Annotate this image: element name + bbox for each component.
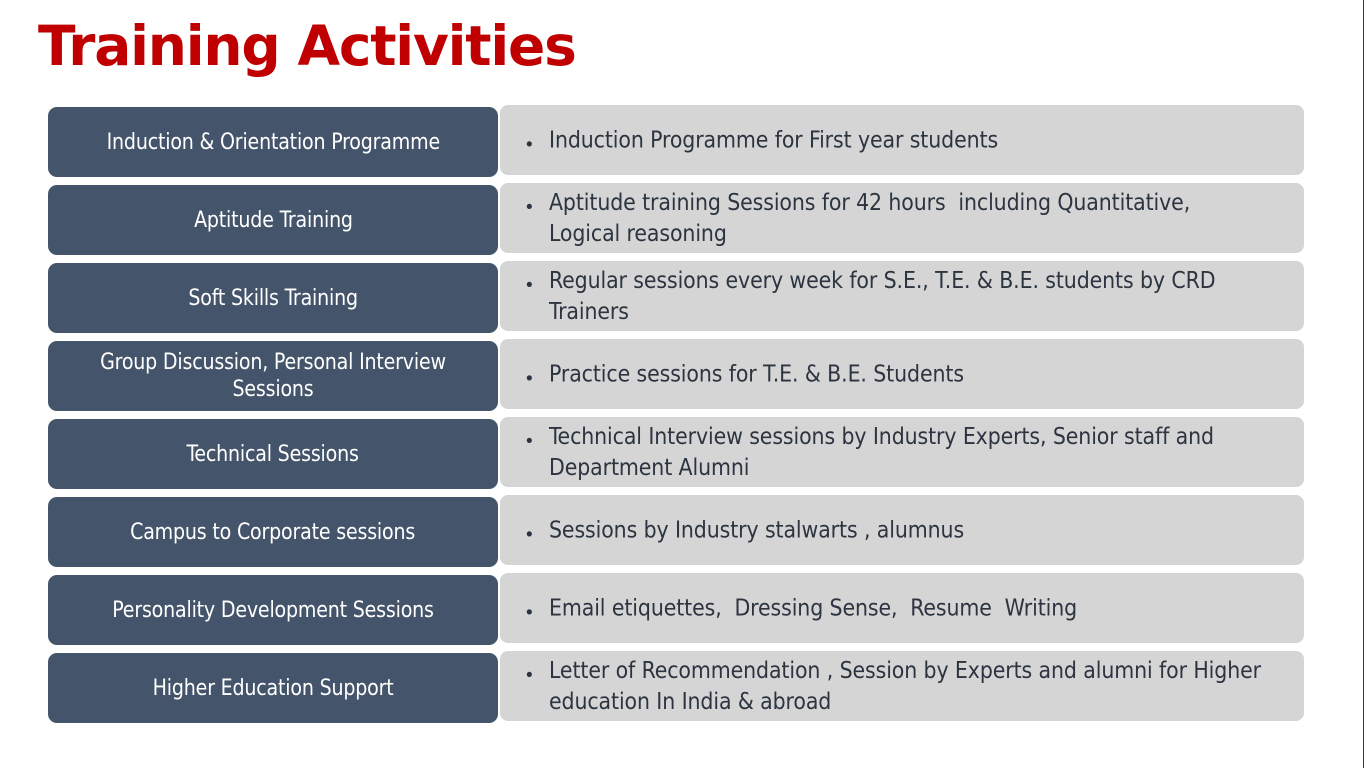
detail-text: Sessions by Industry stalwarts , alumnus [549, 515, 1264, 546]
category-cell-technical-sessions[interactable]: Technical Sessions [48, 419, 498, 489]
bullet-item: Regular sessions every week for S.E., T.… [526, 265, 1286, 327]
category-label: Induction & Orientation Programme [106, 129, 439, 156]
detail-text: Induction Programme for First year stude… [549, 125, 1264, 156]
bullet-dot-icon [526, 421, 549, 451]
table-row: Aptitude Training Aptitude training Sess… [0, 185, 1366, 255]
detail-text: Letter of Recommendation , Session by Ex… [549, 655, 1264, 717]
detail-text: Technical Interview sessions by Industry… [549, 421, 1264, 483]
bullet-item: Sessions by Industry stalwarts , alumnus [526, 515, 1286, 546]
bullet-dot-icon [526, 593, 549, 623]
bullet-dot-icon [526, 515, 549, 545]
detail-text: Email etiquettes, Dressing Sense, Resume… [549, 593, 1264, 624]
bullet-dot-icon [526, 265, 549, 295]
category-cell-soft-skills-training[interactable]: Soft Skills Training [48, 263, 498, 333]
bullet-dot-icon [526, 359, 549, 389]
detail-text: Practice sessions for T.E. & B.E. Studen… [549, 359, 1264, 390]
category-label: Group Discussion, Personal Interview Ses… [73, 349, 473, 402]
table-row: Personality Development Sessions Email e… [0, 575, 1366, 645]
category-cell-personality-development-sessions[interactable]: Personality Development Sessions [48, 575, 498, 645]
detail-cell-campus-to-corporate-sessions[interactable]: Sessions by Industry stalwarts , alumnus [500, 495, 1304, 565]
category-cell-group-discussion-personal-interview-sessions[interactable]: Group Discussion, Personal Interview Ses… [48, 341, 498, 411]
bullet-item: Email etiquettes, Dressing Sense, Resume… [526, 593, 1286, 624]
bullet-dot-icon [526, 655, 549, 685]
table-row: Group Discussion, Personal Interview Ses… [0, 341, 1366, 411]
detail-cell-higher-education-support[interactable]: Letter of Recommendation , Session by Ex… [500, 651, 1304, 721]
bullet-dot-icon [526, 125, 549, 155]
detail-cell-technical-sessions[interactable]: Technical Interview sessions by Industry… [500, 417, 1304, 487]
table-row: Campus to Corporate sessions Sessions by… [0, 497, 1366, 567]
bullet-item: Technical Interview sessions by Industry… [526, 421, 1286, 483]
training-activities-table: Induction & Orientation Programme Induct… [0, 107, 1366, 731]
category-cell-induction-orientation-programme[interactable]: Induction & Orientation Programme [48, 107, 498, 177]
bullet-dot-icon [526, 187, 549, 217]
category-cell-aptitude-training[interactable]: Aptitude Training [48, 185, 498, 255]
category-label: Campus to Corporate sessions [131, 519, 416, 546]
detail-cell-aptitude-training[interactable]: Aptitude training Sessions for 42 hours … [500, 183, 1304, 253]
category-label: Aptitude Training [194, 207, 353, 234]
bullet-item: Practice sessions for T.E. & B.E. Studen… [526, 359, 1286, 390]
table-row: Higher Education Support Letter of Recom… [0, 653, 1366, 723]
category-cell-campus-to-corporate-sessions[interactable]: Campus to Corporate sessions [48, 497, 498, 567]
category-label: Soft Skills Training [188, 285, 357, 312]
detail-text: Regular sessions every week for S.E., T.… [549, 265, 1264, 327]
category-label: Technical Sessions [187, 441, 359, 468]
table-row: Induction & Orientation Programme Induct… [0, 107, 1366, 177]
bullet-item: Aptitude training Sessions for 42 hours … [526, 187, 1286, 249]
detail-cell-soft-skills-training[interactable]: Regular sessions every week for S.E., T.… [500, 261, 1304, 331]
category-cell-higher-education-support[interactable]: Higher Education Support [48, 653, 498, 723]
slide-canvas: Training Activities Induction & Orientat… [0, 0, 1366, 768]
category-label: Personality Development Sessions [112, 597, 434, 624]
bullet-item: Induction Programme for First year stude… [526, 125, 1286, 156]
category-label: Higher Education Support [153, 675, 394, 702]
table-row: Soft Skills Training Regular sessions ev… [0, 263, 1366, 333]
detail-cell-group-discussion-personal-interview-sessions[interactable]: Practice sessions for T.E. & B.E. Studen… [500, 339, 1304, 409]
bullet-item: Letter of Recommendation , Session by Ex… [526, 655, 1286, 717]
detail-text: Aptitude training Sessions for 42 hours … [549, 187, 1264, 249]
page-title: Training Activities [38, 14, 576, 79]
detail-cell-induction-orientation-programme[interactable]: Induction Programme for First year stude… [500, 105, 1304, 175]
table-row: Technical Sessions Technical Interview s… [0, 419, 1366, 489]
detail-cell-personality-development-sessions[interactable]: Email etiquettes, Dressing Sense, Resume… [500, 573, 1304, 643]
